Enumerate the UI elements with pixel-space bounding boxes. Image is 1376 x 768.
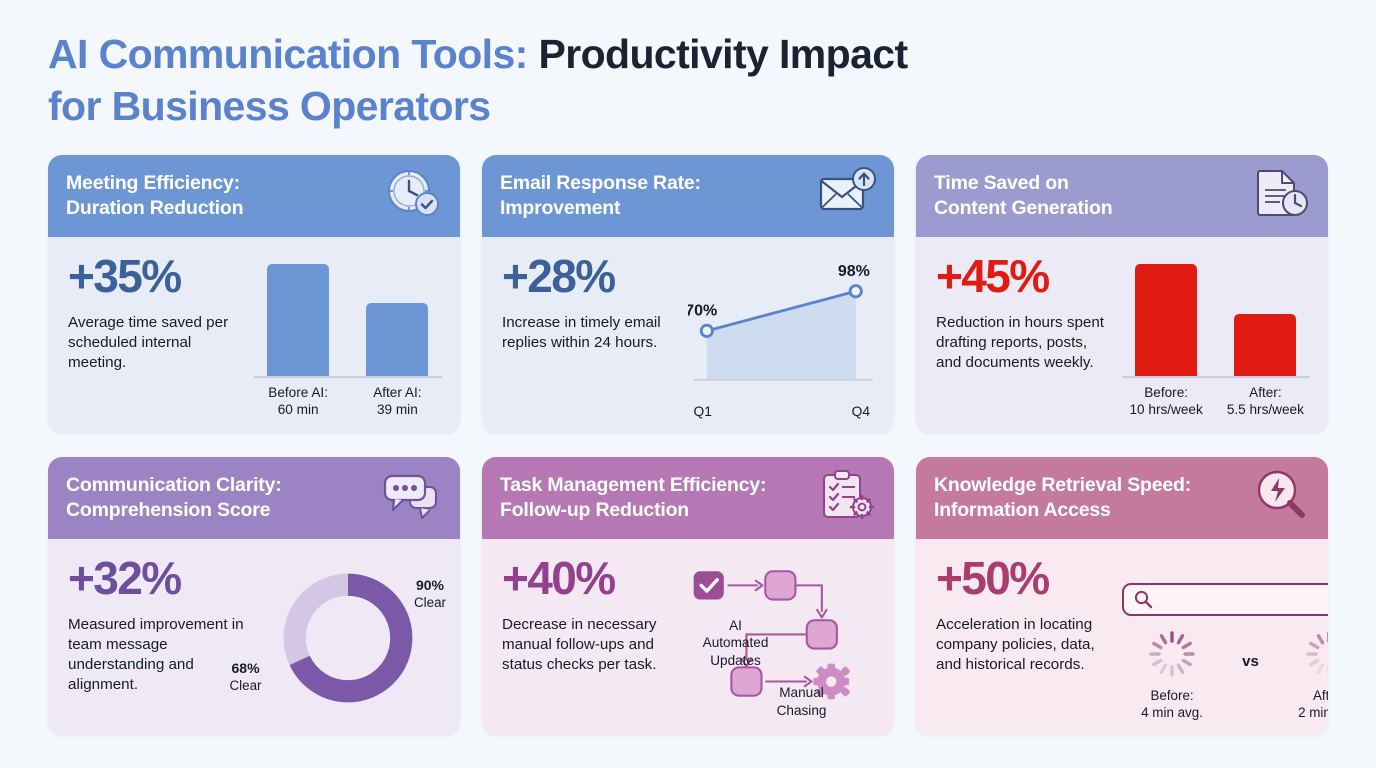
- clipboard-gear-icon: [818, 469, 876, 526]
- flow-caption-start: AI Automated Updates: [686, 617, 786, 669]
- card-body: +35% Average time saved per scheduled in…: [48, 237, 460, 433]
- comparison-row: Before: 4 min avg. vs: [1122, 628, 1328, 721]
- stat-value: +50%: [936, 555, 1116, 601]
- card-chart: Before: 10 hrs/week After: 5.5 hrs/week: [1122, 253, 1310, 419]
- spinner-icon-before: [1146, 628, 1198, 680]
- card-time-saved-content-generation: Time Saved on Content Generation: [916, 155, 1328, 433]
- card-left-column: +45% Reduction in hours spent drafting r…: [936, 253, 1116, 419]
- card-header: Email Response Rate: Improvement: [482, 155, 894, 237]
- card-header: Communication Clarity: Comprehension Sco…: [48, 457, 460, 539]
- search-input-area[interactable]: [1124, 589, 1328, 609]
- comparison-before-label: Before: 4 min avg.: [1141, 685, 1203, 721]
- search-bar[interactable]: [1122, 583, 1328, 616]
- stat-value: +45%: [936, 253, 1116, 299]
- spinner-icon-after: [1303, 628, 1328, 680]
- magnifier-bolt-icon: [1252, 469, 1310, 526]
- card-task-management-efficiency: Task Management Efficiency: Follow-up Re…: [482, 457, 894, 735]
- bar-label-after: After AI: 39 min: [353, 384, 442, 419]
- document-clock-icon: [1252, 167, 1310, 224]
- card-header: Meeting Efficiency: Duration Reduction: [48, 155, 460, 237]
- line-chart: 70% 98%: [688, 254, 876, 402]
- page-title-line2: for Business Operators: [48, 83, 491, 129]
- infographic-page: AI Communication Tools: Productivity Imp…: [0, 0, 1376, 768]
- stat-description: Average time saved per scheduled interna…: [68, 313, 248, 373]
- card-title: Communication Clarity: Comprehension Sco…: [66, 473, 282, 524]
- bar-before: [267, 264, 329, 376]
- card-title: Task Management Efficiency: Follow-up Re…: [500, 473, 766, 524]
- bar-labels: Before: 10 hrs/week After: 5.5 hrs/week: [1122, 378, 1310, 419]
- comparison-after: After: 2 min avg.: [1298, 628, 1328, 721]
- stat-value: +40%: [502, 555, 682, 601]
- stat-value: +32%: [68, 555, 248, 601]
- stat-description: Increase in timely email replies within …: [502, 313, 682, 353]
- card-chart: 70% 98% Q1 Q4: [688, 253, 876, 419]
- clock-check-icon: [384, 167, 442, 224]
- stat-value: +28%: [502, 253, 682, 299]
- bar-chart: [1122, 258, 1310, 376]
- card-title: Email Response Rate: Improvement: [500, 171, 701, 222]
- card-header: Knowledge Retrieval Speed: Information A…: [916, 457, 1328, 539]
- chat-bubbles-icon: [382, 470, 442, 525]
- bar-after: [366, 303, 428, 376]
- point-label-q1: 70%: [688, 302, 717, 320]
- donut-label-before: 68%Clear: [230, 660, 262, 695]
- donut-chart: [274, 564, 422, 712]
- stat-value: +35%: [68, 253, 248, 299]
- bar-label-before: Before: 10 hrs/week: [1122, 384, 1211, 419]
- card-body: +45% Reduction in hours spent drafting r…: [916, 237, 1328, 433]
- comparison-vs-label: vs: [1242, 653, 1259, 696]
- bar-group: [1221, 314, 1310, 376]
- x-tick-q4: Q4: [852, 404, 870, 419]
- bar-group: [1122, 264, 1211, 376]
- card-title: Knowledge Retrieval Speed: Information A…: [934, 473, 1191, 524]
- comparison-before: Before: 4 min avg.: [1141, 628, 1203, 721]
- bar-after: [1234, 314, 1296, 376]
- card-email-response-rate: Email Response Rate: Improvement +28% In…: [482, 155, 894, 433]
- card-communication-clarity: Communication Clarity: Comprehension Sco…: [48, 457, 460, 735]
- card-left-column: +50% Acceleration in locating company po…: [936, 555, 1116, 721]
- card-title: Time Saved on Content Generation: [934, 171, 1112, 222]
- page-title-accent: AI Communication Tools:: [48, 31, 528, 77]
- card-body: +50% Acceleration in locating company po…: [916, 539, 1328, 735]
- card-left-column: +32% Measured improvement in team messag…: [68, 555, 248, 721]
- card-widget: Before: 4 min avg. vs: [1122, 555, 1328, 721]
- card-diagram: AI Automated Updates Manual Chasing: [688, 555, 876, 721]
- stat-description: Decrease in necessary manual follow-ups …: [502, 615, 682, 675]
- card-chart: 90%Clear 68%Clear: [254, 555, 442, 721]
- flow-node: [765, 571, 795, 599]
- line-chart-axis-labels: Q1 Q4: [688, 402, 876, 419]
- bar-label-before: Before AI: 60 min: [254, 384, 343, 419]
- envelope-up-arrow-icon: [818, 167, 876, 224]
- flow-connector: [795, 585, 821, 611]
- flow-caption-end: Manual Chasing: [752, 684, 852, 719]
- card-left-column: +35% Average time saved per scheduled in…: [68, 253, 248, 419]
- cards-grid: Meeting Efficiency: Duration Reduction: [48, 155, 1328, 735]
- data-point-q1: [701, 325, 712, 336]
- bar-group: [254, 264, 343, 376]
- data-point-q4: [850, 286, 861, 297]
- bar-chart: [254, 258, 442, 376]
- donut-label-after: 90%Clear: [414, 577, 446, 612]
- x-tick-q1: Q1: [694, 404, 712, 419]
- card-header: Time Saved on Content Generation: [916, 155, 1328, 237]
- page-title: AI Communication Tools: Productivity Imp…: [48, 28, 1328, 133]
- card-body: +28% Increase in timely email replies wi…: [482, 237, 894, 433]
- bar-before: [1135, 264, 1197, 376]
- flow-node-checked: [693, 571, 723, 599]
- search-input[interactable]: [1153, 591, 1328, 607]
- card-body: +40% Decrease in necessary manual follow…: [482, 539, 894, 735]
- card-body: +32% Measured improvement in team messag…: [48, 539, 460, 735]
- stat-description: Acceleration in locating company policie…: [936, 615, 1116, 675]
- area-fill: [706, 291, 855, 380]
- search-icon: [1133, 589, 1153, 609]
- card-chart: Before AI: 60 min After AI: 39 min: [254, 253, 442, 419]
- bar-labels: Before AI: 60 min After AI: 39 min: [254, 378, 442, 419]
- card-title: Meeting Efficiency: Duration Reduction: [66, 171, 243, 222]
- card-knowledge-retrieval-speed: Knowledge Retrieval Speed: Information A…: [916, 457, 1328, 735]
- flow-node: [806, 620, 836, 648]
- card-left-column: +40% Decrease in necessary manual follow…: [502, 555, 682, 721]
- comparison-after-label: After: 2 min avg.: [1298, 685, 1328, 721]
- bar-group: [353, 303, 442, 376]
- card-header: Task Management Efficiency: Follow-up Re…: [482, 457, 894, 539]
- bar-label-after: After: 5.5 hrs/week: [1221, 384, 1310, 419]
- card-meeting-efficiency: Meeting Efficiency: Duration Reduction: [48, 155, 460, 433]
- card-left-column: +28% Increase in timely email replies wi…: [502, 253, 682, 419]
- stat-description: Measured improvement in team message und…: [68, 615, 248, 695]
- point-label-q4: 98%: [837, 262, 869, 280]
- stat-description: Reduction in hours spent drafting report…: [936, 313, 1116, 373]
- page-title-rest: Productivity Impact: [528, 31, 908, 77]
